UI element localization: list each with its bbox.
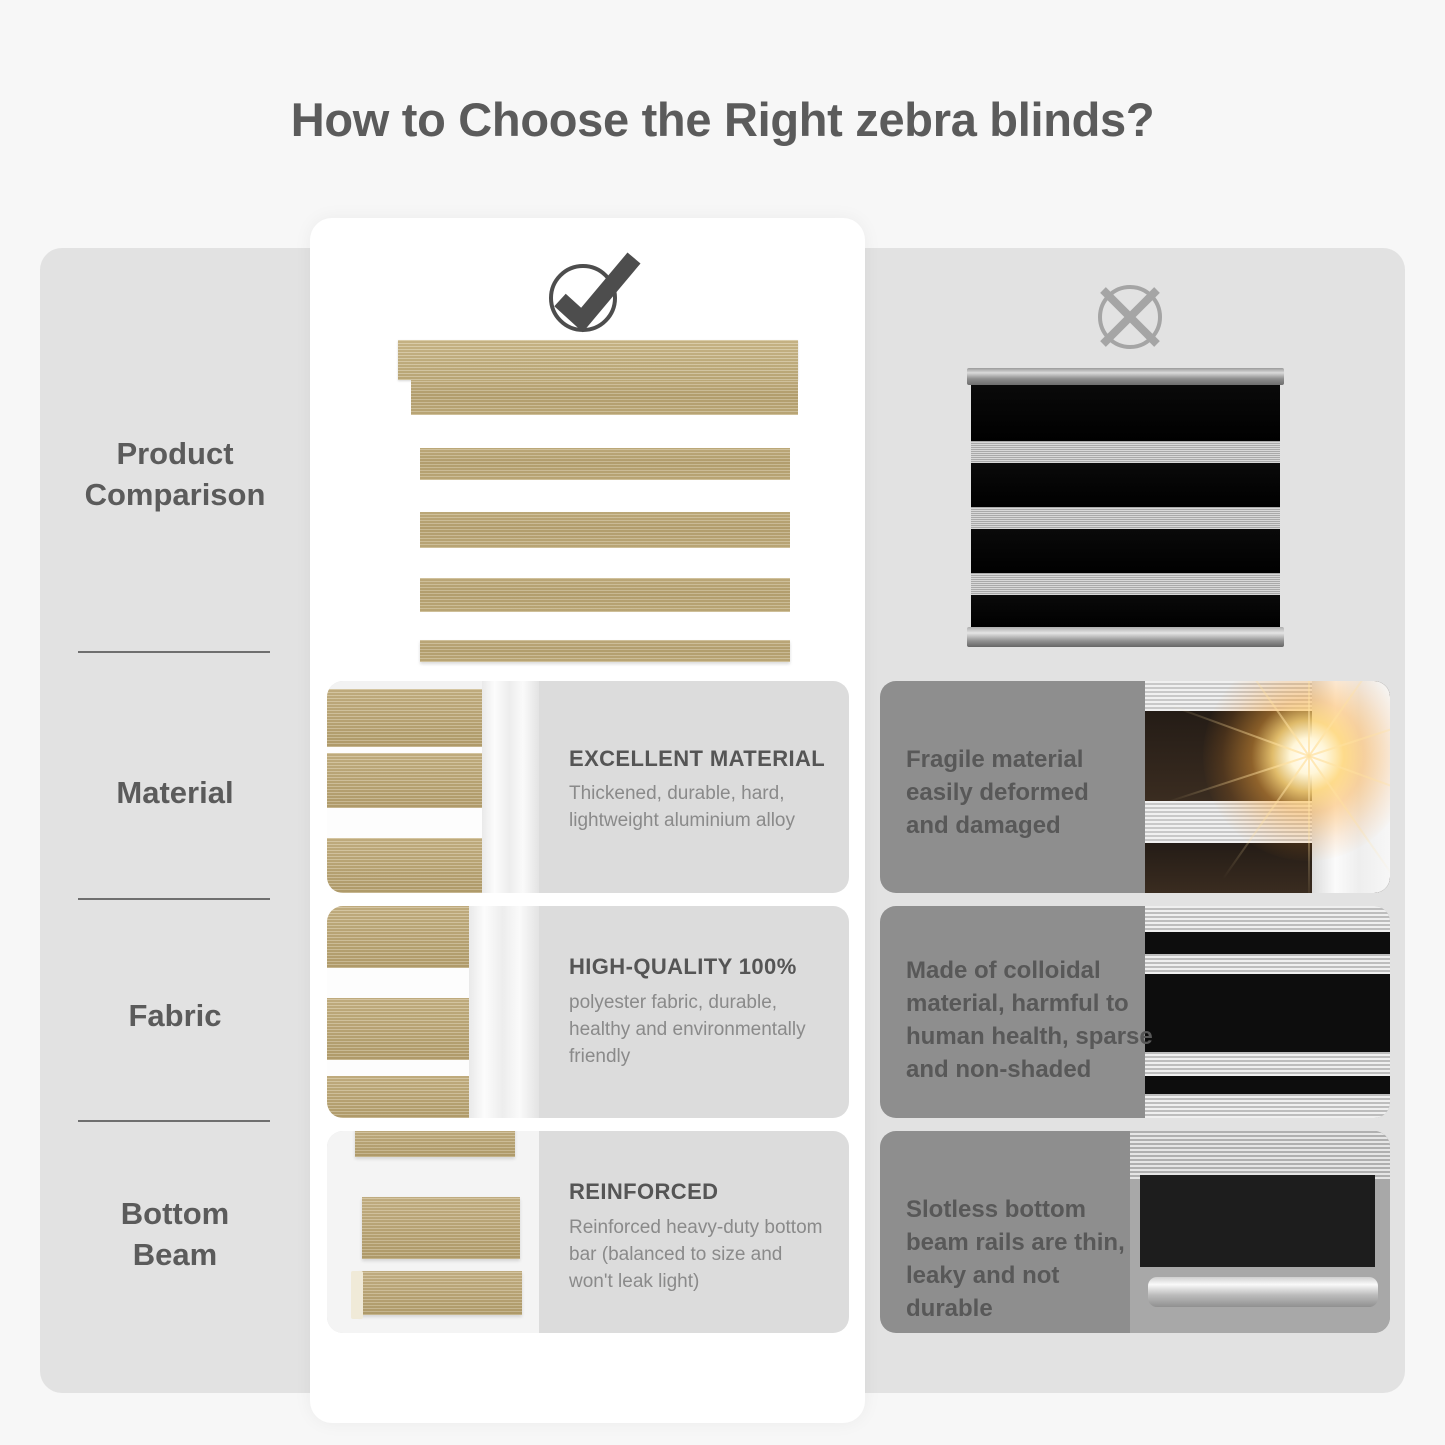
feature-card-bottom-beam-good: REINFORCED Reinforced heavy-duty bottom … — [327, 1131, 849, 1333]
row-divider-1 — [78, 651, 270, 653]
photo-black-blind-sparse-fabric — [1145, 906, 1390, 1118]
photo-beige-blind-window-frame-closeup — [327, 681, 539, 893]
feature-text-bottom-beam-bad: Slotless bottom beam rails are thin, lea… — [906, 1193, 1146, 1325]
row-label-product-comparison: Product Comparison — [40, 434, 310, 516]
page-title: How to Choose the Right zebra blinds? — [0, 92, 1445, 147]
row-label-bottom-beam: Bottom Beam — [40, 1194, 310, 1276]
feature-title-material-good: EXCELLENT MATERIAL — [569, 746, 825, 772]
feature-card-bottom-beam-bad: Slotless bottom beam rails are thin, lea… — [880, 1131, 1390, 1333]
feature-title-fabric-good: HIGH-QUALITY 100% — [569, 954, 797, 980]
x-circle-icon — [1090, 277, 1170, 357]
photo-light-leak-sunburst-window — [1145, 681, 1390, 893]
row-label-material: Material — [40, 773, 310, 814]
feature-title-bottom-beam-good: REINFORCED — [569, 1179, 718, 1205]
row-label-fabric: Fabric — [40, 996, 310, 1037]
feature-desc-bottom-beam-good: Reinforced heavy-duty bottom bar (balanc… — [569, 1215, 827, 1296]
row-divider-2 — [78, 898, 270, 900]
photo-thin-slotless-bottom-rail — [1130, 1131, 1390, 1333]
feature-desc-fabric-good: polyester fabric, durable, healthy and e… — [569, 990, 819, 1071]
row-label-column: Product Comparison Material Fabric Botto… — [40, 248, 310, 1393]
feature-text-material-bad: Fragile material easily deformed and dam… — [906, 743, 1136, 842]
feature-card-fabric-bad: Made of colloidal material, harmful to h… — [880, 906, 1390, 1118]
feature-text-fabric-bad: Made of colloidal material, harmful to h… — [906, 954, 1156, 1086]
check-circle-icon — [538, 252, 643, 337]
photo-reinforced-bottom-bar-closeup — [327, 1131, 539, 1333]
feature-card-material-bad: Fragile material easily deformed and dam… — [880, 681, 1390, 893]
feature-desc-material-good: Thickened, durable, hard, lightweight al… — [569, 781, 819, 835]
feature-card-fabric-good: HIGH-QUALITY 100% polyester fabric, dura… — [327, 906, 849, 1118]
feature-card-material-good: EXCELLENT MATERIAL Thickened, durable, h… — [327, 681, 849, 893]
row-divider-3 — [78, 1120, 270, 1122]
product-image-black-zebra-blind — [967, 368, 1284, 647]
product-image-beige-zebra-blind — [398, 340, 803, 670]
photo-beige-blind-fabric-closeup — [327, 906, 539, 1118]
